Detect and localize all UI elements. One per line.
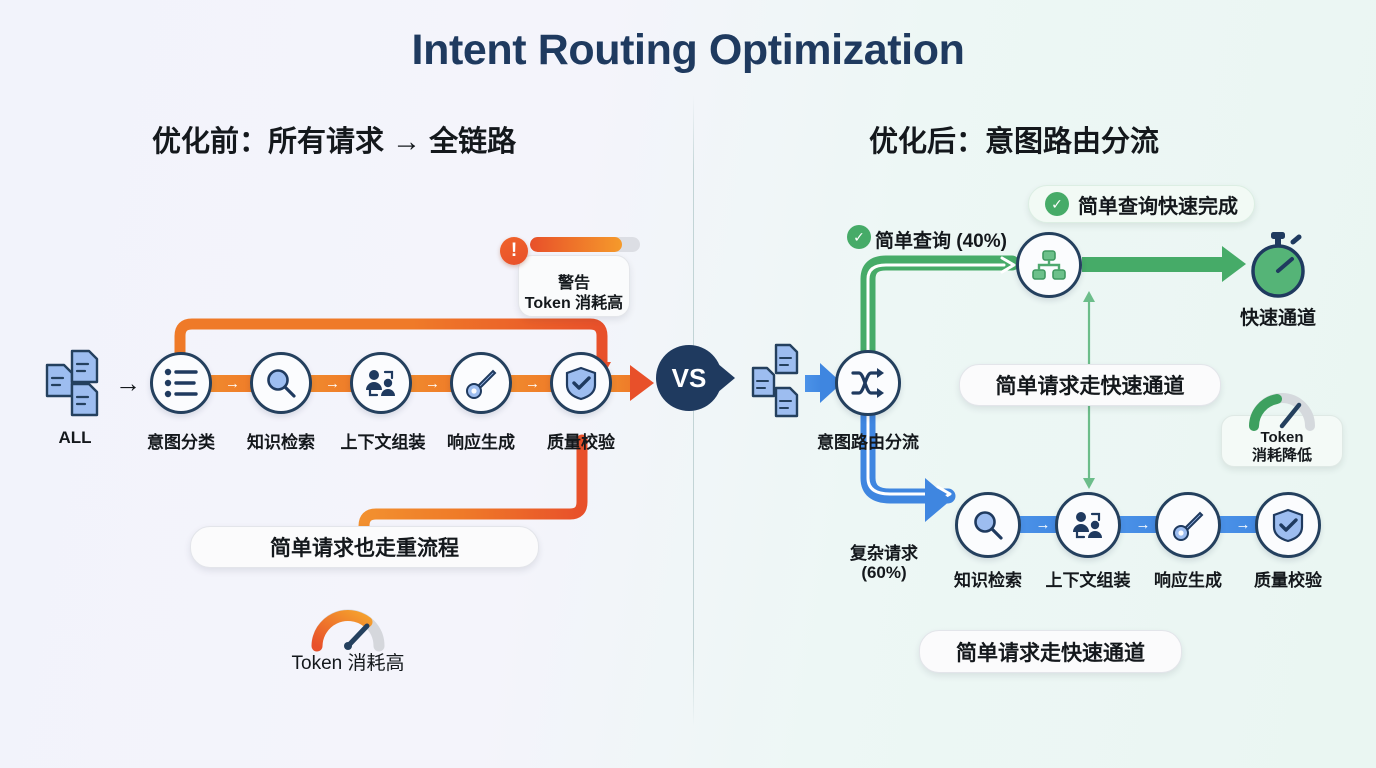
gauge-high-icon (311, 606, 385, 650)
slow-path-arrowhead (925, 478, 951, 522)
source-arrow-icon: → (115, 368, 141, 399)
stage-label-quality-check: 质量校验 (540, 428, 622, 453)
after-callout-middle: 简单请求走快速通道 (959, 364, 1221, 406)
before-heading: 优化前：所有请求 → 全链路 (152, 118, 516, 160)
after-stage-label-response-generate: 响应生成 (1147, 566, 1229, 591)
search-icon (972, 509, 1004, 541)
before-output-arrowhead (630, 365, 654, 401)
fast-branch-check-icon: ✓ (847, 225, 871, 249)
context-users-icon (364, 368, 398, 398)
fast-success-pill: ✓ 简单查询快速完成 (1028, 185, 1255, 223)
warning-detail: Token 消耗高 (519, 294, 629, 314)
after-gauge-line1: Token (1222, 429, 1342, 447)
vs-label: VS (655, 340, 723, 416)
stage-node-knowledge-search[interactable] (250, 352, 312, 414)
warning-title: 警告 (519, 274, 629, 294)
exclamation-icon: ! (500, 237, 528, 265)
context-users-icon (1071, 510, 1105, 540)
stage-label-response-generate: 响应生成 (440, 428, 522, 453)
token-progress-fill (530, 237, 622, 252)
stage-node-intent-classify[interactable] (150, 352, 212, 414)
router-label: 意图路由分流 (806, 428, 930, 453)
slow-branch-label-line2: (60%) (834, 563, 934, 582)
shield-check-icon (565, 366, 597, 400)
wand-gear-icon (464, 366, 498, 400)
warning-card: 警告 Token 消耗高 (518, 255, 630, 317)
fast-path-line (852, 243, 1028, 361)
stage-node-context-assembly[interactable] (350, 352, 412, 414)
fast-lane-node[interactable] (1016, 232, 1082, 298)
source-label: ALL (48, 428, 102, 448)
sitemap-icon (1032, 250, 1066, 280)
wand-gear-icon (1171, 508, 1205, 542)
shuffle-icon (850, 367, 886, 399)
after-stage-label-quality-check: 质量校验 (1247, 566, 1329, 591)
after-stage-label-knowledge-search: 知识检索 (947, 566, 1029, 591)
fast-branch-label: 简单查询 (40%) (875, 226, 1007, 253)
stage-node-response-generate[interactable] (450, 352, 512, 414)
token-progress-bar (530, 237, 640, 252)
after-stage-label-context-assembly: 上下文组装 (1038, 566, 1138, 591)
diagram-canvas: Intent Routing Optimization 优化前：所有请求 → 全… (0, 0, 1376, 768)
router-node[interactable] (835, 350, 901, 416)
before-callout: 简单请求也走重流程 (190, 526, 539, 568)
list-icon (164, 368, 198, 398)
fast-success-label: 简单查询快速完成 (1078, 190, 1238, 219)
before-gauge-label: Token 消耗高 (248, 648, 448, 675)
after-source-documents-icon (750, 342, 806, 424)
gauge-low-icon (1249, 392, 1315, 430)
after-stage-node-context-assembly[interactable] (1055, 492, 1121, 558)
fast-lane-result-label: 快速通道 (1228, 303, 1328, 330)
search-icon (265, 367, 297, 399)
stage-label-context-assembly: 上下文组装 (333, 428, 433, 453)
shield-check-icon (1272, 508, 1304, 542)
stage-label-knowledge-search: 知识检索 (240, 428, 322, 453)
after-stage-node-quality-check[interactable] (1255, 492, 1321, 558)
slow-branch-label-line1: 复杂请求 (834, 544, 934, 563)
stopwatch-icon (1247, 232, 1309, 298)
check-circle-icon: ✓ (1045, 192, 1069, 216)
page-title: Intent Routing Optimization (0, 26, 1376, 75)
after-stage-node-response-generate[interactable] (1155, 492, 1221, 558)
source-documents-icon (44, 348, 106, 418)
after-stage-node-knowledge-search[interactable] (955, 492, 1021, 558)
fast-lane-arrowhead (1222, 246, 1246, 282)
after-gauge-line2: 消耗降低 (1222, 447, 1342, 465)
after-callout-bottom: 简单请求走快速通道 (919, 630, 1182, 673)
stage-label-intent-classify: 意图分类 (140, 428, 222, 453)
fast-lane-bar (1082, 257, 1227, 272)
stage-node-quality-check[interactable] (550, 352, 612, 414)
slow-branch-label: 复杂请求 (60%) (834, 544, 934, 582)
after-heading: 优化后：意图路由分流 (869, 118, 1159, 160)
